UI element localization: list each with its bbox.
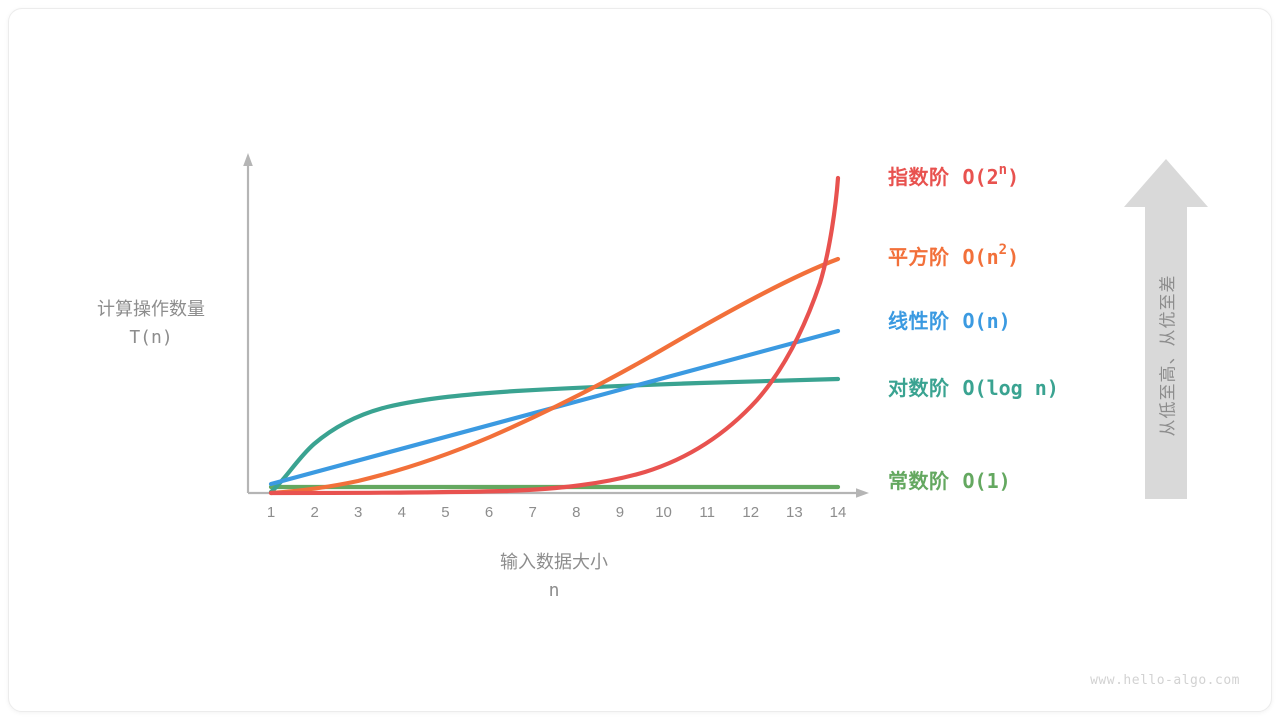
x-axis-arrowhead [856, 488, 869, 498]
x-tick-label: 4 [382, 504, 422, 521]
x-axis-title: 输入数据大小 n [434, 549, 674, 605]
x-axis-title-cn: 输入数据大小 [434, 549, 674, 577]
legend-item-exponential[interactable]: 指数阶O(2n) [888, 161, 1019, 190]
legend-item-notation: O(log n) [963, 376, 1059, 400]
x-tick-label: 10 [644, 504, 684, 521]
chart-canvas [0, 0, 1280, 720]
legend-item-exponent: 2 [999, 242, 1007, 258]
y-axis-title-cn: 计算操作数量 [44, 296, 258, 324]
x-tick-label: 5 [425, 504, 465, 521]
y-axis-title-symbol: T(n) [44, 324, 258, 352]
y-axis-title: 计算操作数量 T(n) [44, 296, 258, 352]
x-tick-label: 12 [731, 504, 771, 521]
legend-item-logarithmic[interactable]: 对数阶O(log n) [888, 372, 1059, 401]
x-tick-label: 14 [818, 504, 858, 521]
legend-item-notation: O(n2) [963, 245, 1020, 269]
legend-item-name: 平方阶 [888, 247, 950, 269]
curve-logarithmic [271, 379, 838, 492]
figure-root: 计算操作数量 T(n) 输入数据大小 n 1234567891011121314… [0, 0, 1280, 720]
legend-item-constant[interactable]: 常数阶O(1) [888, 465, 1011, 494]
legend-item-name: 对数阶 [888, 378, 950, 400]
legend-item-exponent: n [999, 162, 1007, 178]
legend-item-quadratic[interactable]: 平方阶O(n2) [888, 241, 1019, 270]
legend-item-notation: O(2n) [963, 165, 1020, 189]
legend-item-notation: O(1) [963, 469, 1011, 493]
x-tick-label: 3 [338, 504, 378, 521]
x-tick-label: 1 [251, 504, 291, 521]
x-tick-label: 2 [295, 504, 335, 521]
x-tick-label: 6 [469, 504, 509, 521]
legend-item-linear[interactable]: 线性阶O(n) [888, 305, 1011, 334]
y-axis-arrowhead [243, 153, 253, 166]
ranking-arrow-shape [1124, 159, 1208, 499]
ranking-arrow-icon [1122, 155, 1210, 503]
legend-item-notation: O(n) [963, 309, 1011, 333]
x-tick-label: 13 [774, 504, 814, 521]
x-tick-label: 8 [556, 504, 596, 521]
legend-item-name: 常数阶 [888, 471, 950, 493]
curve-quadratic [271, 259, 838, 493]
x-tick-label: 11 [687, 504, 727, 521]
legend-item-name: 线性阶 [888, 311, 950, 333]
series-curves [271, 178, 838, 493]
curve-exponential [271, 178, 838, 493]
x-tick-label: 9 [600, 504, 640, 521]
x-tick-label: 7 [513, 504, 553, 521]
legend-item-name: 指数阶 [888, 167, 950, 189]
x-axis-title-symbol: n [434, 577, 674, 605]
watermark: www.hello-algo.com [1090, 673, 1240, 688]
complexity-chart: 计算操作数量 T(n) 输入数据大小 n 1234567891011121314… [0, 0, 1280, 720]
